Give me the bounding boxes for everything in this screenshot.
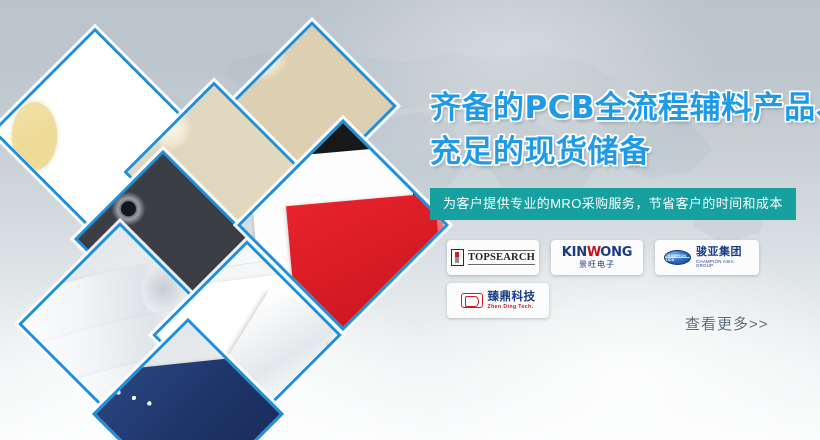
promo-banner: JIE 齐备的PCB全流程辅料产品、 充足的现货储备 为客户提供专业的MRO采购…: [0, 0, 820, 440]
headline-line-1: 齐备的PCB全流程辅料产品、: [430, 86, 810, 130]
topsearch-wordmark: TOPSEARCH: [468, 250, 535, 265]
zhen-ding-mark-icon: [461, 293, 483, 308]
kinwong-cn-name: 景旺电子: [562, 261, 633, 269]
champion-asia-globe-icon: CHAMPION ASIA: [664, 250, 691, 265]
partner-logo-zhen-ding-tech[interactable]: 臻鼎科技 Zhen Ding Tech.: [447, 283, 549, 318]
topsearch-mark-icon: [451, 249, 464, 266]
zhen-ding-en-name: Zhen Ding Tech.: [488, 305, 536, 310]
kinwong-en-part1: KIN: [562, 245, 587, 260]
subtitle-bar: 为客户提供专业的MRO采购服务，节省客户的时间和成本: [430, 188, 796, 220]
champion-asia-globe-text: CHAMPION ASIA: [665, 251, 690, 264]
partner-logo-topsearch[interactable]: TOPSEARCH: [447, 240, 539, 275]
banner-copy: 齐备的PCB全流程辅料产品、 充足的现货储备 为客户提供专业的MRO采购服务，节…: [430, 86, 810, 220]
zhen-ding-cn-name: 臻鼎科技: [488, 291, 536, 303]
champion-asia-en-name: CHAMPION ASIA GROUP: [696, 260, 750, 269]
view-more-link[interactable]: 查看更多>>: [685, 313, 769, 334]
headline-line-2: 充足的现货储备: [430, 130, 810, 174]
partner-logo-kinwong[interactable]: KINWONG 景旺电子: [551, 240, 643, 275]
product-collage: JIE: [0, 0, 440, 440]
kinwong-en-part2: W: [587, 245, 600, 260]
kinwong-en-part3: ONG: [600, 245, 632, 260]
partner-logo-row-1: TOPSEARCH KINWONG 景旺电子 CHAMPION ASIA 骏亚集…: [447, 240, 817, 275]
champion-asia-cn-name: 骏亚集团: [696, 247, 750, 258]
kinwong-wordmark: KINWONG: [562, 246, 633, 259]
partner-logo-champion-asia[interactable]: CHAMPION ASIA 骏亚集团 CHAMPION ASIA GROUP: [655, 240, 759, 275]
